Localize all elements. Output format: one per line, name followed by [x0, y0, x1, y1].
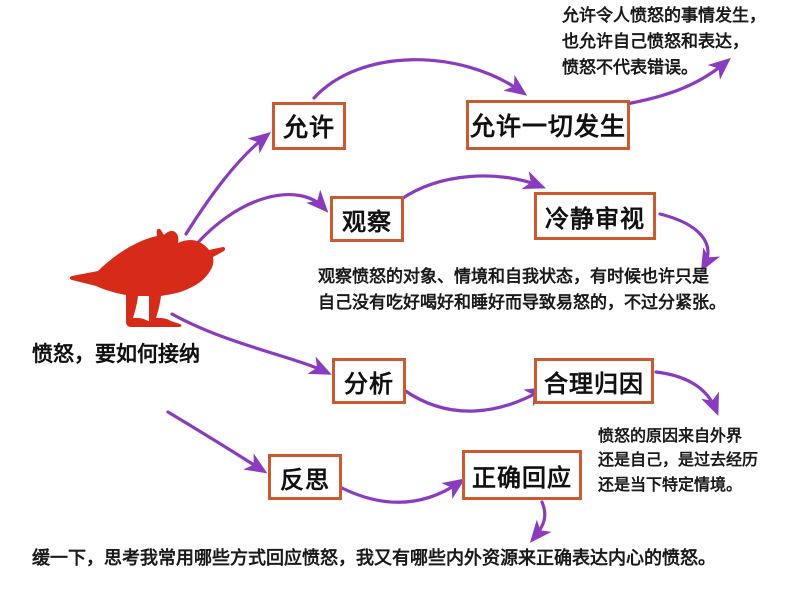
node-label: 反思: [280, 460, 330, 495]
node-allow-all[interactable]: 允许一切发生: [466, 100, 630, 150]
cardinal-bird-icon: [68, 228, 228, 334]
note-line: 自己没有吃好喝好和睡好而导致易怒的，不过分紧张。: [318, 291, 726, 317]
node-label: 允许: [283, 108, 335, 144]
note-observe: 观察愤怒的对象、情境和自我状态，有时候也许只是自己没有吃好喝好和睡好而导致易怒的…: [318, 265, 726, 317]
node-analyze[interactable]: 分析: [332, 358, 406, 404]
bird-body-path: [70, 229, 225, 327]
node-label: 分析: [344, 364, 394, 399]
node-attribute[interactable]: 合理归因: [534, 358, 654, 404]
arrow-reflect-to-respond: [338, 482, 460, 502]
note-allow: 允许令人愤怒的事情发生，也允许自己愤怒和表达，愤怒不代表错误。: [562, 4, 766, 81]
node-label: 正确回应: [472, 458, 572, 493]
note-line: 愤怒不代表错误。: [562, 56, 766, 82]
arrow-respond-to-note: [534, 502, 545, 538]
note-line: 还是自己，是过去经历: [598, 448, 758, 472]
arrow-observe-to-calm: [400, 176, 540, 200]
arrow-allow-to-allow-all: [314, 60, 522, 98]
node-allow[interactable]: 允许: [272, 102, 346, 150]
arrow-bird-to-allow: [186, 136, 266, 234]
node-respond[interactable]: 正确回应: [462, 450, 582, 500]
note-line: 愤怒的原因来自外界: [598, 424, 758, 448]
note-line: 观察愤怒的对象、情境和自我状态，有时候也许只是: [318, 265, 726, 291]
node-label: 允许一切发生: [470, 107, 626, 143]
node-label: 合理归因: [544, 364, 644, 399]
note-line: 也允许自己愤怒和表达，: [562, 30, 766, 56]
note-line: 允许令人愤怒的事情发生，: [562, 4, 766, 30]
arrow-bird-to-reflect: [168, 412, 262, 470]
note-respond: 缓一下，思考我常用哪些方式回应愤怒，我又有哪些内外资源来正确表达内心的愤怒。: [32, 545, 716, 572]
note-attribute: 愤怒的原因来自外界还是自己，是过去经历还是当下特定情境。: [598, 424, 758, 497]
note-line: 缓一下，思考我常用哪些方式回应愤怒，我又有哪些内外资源来正确表达内心的愤怒。: [32, 545, 716, 572]
diagram-title: 愤怒，要如何接纳: [32, 338, 200, 368]
node-label: 冷静审视: [545, 199, 645, 234]
arrow-analyze-to-attribute: [404, 390, 542, 411]
arrow-attribute-to-note: [656, 372, 716, 410]
node-reflect[interactable]: 反思: [268, 454, 342, 500]
note-line: 还是当下特定情境。: [598, 473, 758, 497]
arrow-calm-to-note: [660, 214, 708, 266]
node-calm-review[interactable]: 冷静审视: [534, 192, 656, 240]
diagram-canvas: 愤怒，要如何接纳 允许允许一切发生观察冷静审视分析合理归因反思正确回应 允许令人…: [0, 0, 800, 600]
node-label: 观察: [342, 202, 392, 237]
node-observe[interactable]: 观察: [330, 196, 404, 242]
